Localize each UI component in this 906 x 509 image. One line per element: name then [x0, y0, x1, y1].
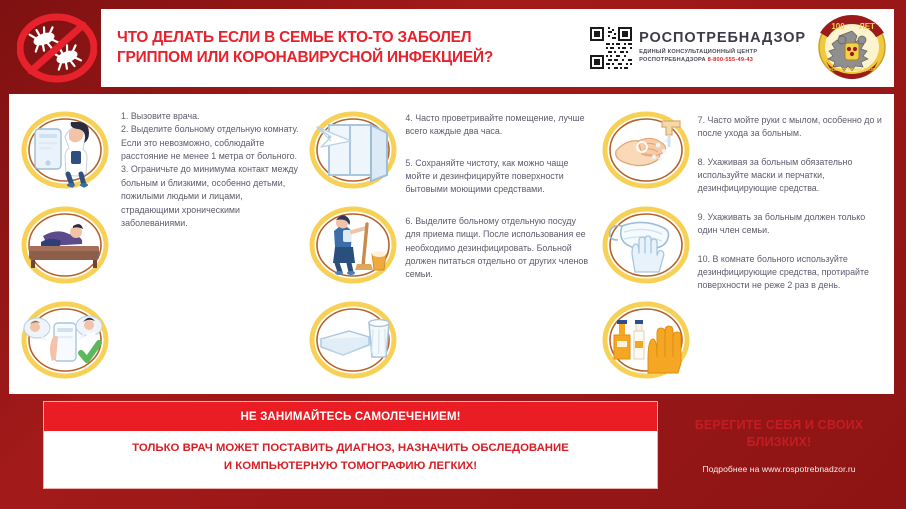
qr-code-icon[interactable] [590, 27, 632, 69]
org-sub-line-1: ЕДИНЫЙ КОНСУЛЬТАЦИОННЫЙ ЦЕНТР [639, 49, 806, 57]
open-window-ventilation-icon [309, 111, 397, 189]
step-1: 1. Вызовите врача. [121, 110, 299, 123]
step-7: 7. Часто мойте руки с мылом, особенно до… [698, 114, 884, 141]
self-medication-warning: НЕ ЗАНИМАЙТЕСЬ САМОЛЕЧЕНИЕМ! ТОЛЬКО ВРАЧ… [43, 401, 658, 489]
column-2-icons [305, 100, 401, 390]
column-2-steps: 4. Часто проветривайте помещение, лучше … [401, 100, 597, 390]
side-headline-line-1: БЕРЕГИТЕ СЕБЯ И СВОИХ [695, 417, 864, 434]
warning-body-line-1: ТОЛЬКО ВРАЧ МОЖЕТ ПОСТАВИТЬ ДИАГНОЗ, НАЗ… [132, 440, 569, 457]
warning-body: ТОЛЬКО ВРАЧ МОЖЕТ ПОСТАВИТЬ ДИАГНОЗ, НАЗ… [44, 431, 657, 488]
column-3-icons [598, 100, 694, 390]
no-virus-prohibition-icon [9, 9, 101, 87]
emblem-years: 100 [831, 22, 845, 31]
org-sub-line-2: РОСПОТРЕБНАДЗОРА 8-800-555-49-43 [639, 57, 806, 65]
step-5: 5. Сохраняйте чистоту, как можно чаще мо… [405, 157, 591, 197]
column-1-steps: 1. Вызовите врача. 2. Выделите больному … [117, 100, 305, 390]
title-line-1: ЧТО ДЕЛАТЬ ЕСЛИ В СЕМЬЕ КТО-ТО ЗАБОЛЕЛ [117, 28, 584, 48]
column-1-icons [13, 100, 117, 390]
org-subtitle: ЕДИНЫЙ КОНСУЛЬТАЦИОННЫЙ ЦЕНТР РОСПОТРЕБН… [639, 49, 806, 65]
side-headline: БЕРЕГИТЕ СЕБЯ И СВОИХ БЛИЗКИХ! [695, 417, 864, 451]
step-9: 9. Ухаживать за больным должен только од… [698, 211, 884, 238]
org-name: РОСПОТРЕБНАДЗОР [639, 31, 806, 47]
mask-and-gloves-icon [602, 206, 690, 284]
org-sub-prefix: РОСПОТРЕБНАДЗОРА [639, 57, 706, 63]
org-phone[interactable]: 8-800-555-49-43 [708, 57, 753, 63]
column-3-steps: 7. Часто мойте руки с мылом, особенно до… [694, 100, 890, 390]
step-8: 8. Ухаживая за больным обязательно испол… [698, 156, 884, 196]
poster-footer: НЕ ЗАНИМАЙТЕСЬ САМОЛЕЧЕНИЕМ! ТОЛЬКО ВРАЧ… [9, 401, 894, 489]
poster-root: ЧТО ДЕЛАТЬ ЕСЛИ В СЕМЬЕ КТО-ТО ЗАБОЛЕЛ Г… [0, 0, 906, 509]
svg-text:РОСПОТРЕБНАДЗОР: РОСПОТРЕБНАДЗОР [829, 67, 876, 72]
side-headline-line-2: БЛИЗКИХ! [695, 434, 864, 451]
step-3: 3. Ограничьте до минимума контакт между … [121, 163, 299, 230]
emblem-years-label: ЛЕТ [859, 22, 875, 31]
step-10: 10. В комнате больного используйте дезин… [698, 253, 884, 293]
rospotrebnadzor-block: РОСПОТРЕБНАДЗОР ЕДИНЫЙ КОНСУЛЬТАЦИОННЫЙ … [590, 27, 810, 69]
steps-column-3: 7. Часто мойте руки с мылом, особенно до… [598, 100, 890, 390]
poster-header: ЧТО ДЕЛАТЬ ЕСЛИ В СЕМЬЕ КТО-ТО ЗАБОЛЕЛ Г… [9, 9, 894, 87]
org-text-block: РОСПОТРЕБНАДЗОР ЕДИНЫЙ КОНСУЛЬТАЦИОННЫЙ … [639, 31, 806, 65]
steps-column-1: 1. Вызовите врача. 2. Выделите больному … [13, 100, 305, 390]
disinfectant-bottles-gloves-icon [602, 301, 690, 379]
steps-panel: 1. Вызовите врача. 2. Выделите больному … [9, 94, 894, 394]
warning-body-inner: ТОЛЬКО ВРАЧ МОЖЕТ ПОСТАВИТЬ ДИАГНОЗ, НАЗ… [132, 440, 569, 474]
website-note[interactable]: Подробнее на www.rospotrebnadzor.ru [702, 464, 855, 474]
washing-hands-under-tap-icon [602, 111, 690, 189]
warning-headline: НЕ ЗАНИМАЙТЕСЬ САМОЛЕЧЕНИЕМ! [44, 402, 657, 431]
title-line-2: ГРИППОМ ИЛИ КОРОНАВИРУСНОЙ ИНФЕКЦИЕЙ? [117, 48, 584, 68]
step-4: 4. Часто проветривайте помещение, лучше … [405, 112, 591, 139]
steps-column-2: 4. Часто проветривайте помещение, лучше … [305, 100, 597, 390]
rospotrebnadzor-emblem-icon: 100 ЛЕТ РОСПОТРЕБНАДЗОР [816, 13, 888, 83]
separate-dishes-icon [309, 301, 397, 379]
doctor-with-tablet-icon [21, 111, 109, 189]
page-title: ЧТО ДЕЛАТЬ ЕСЛИ В СЕМЬЕ КТО-ТО ЗАБОЛЕЛ Г… [117, 28, 584, 67]
woman-mopping-floor-icon [309, 206, 397, 284]
person-resting-on-sofa-icon [21, 206, 109, 284]
video-call-with-checkmark-icon [21, 301, 109, 379]
step-2: 2. Выделите больному отдельную комнату. … [121, 123, 299, 163]
step-6: 6. Выделите больному отдельную посуду дл… [405, 215, 591, 282]
header-white-bar: ЧТО ДЕЛАТЬ ЕСЛИ В СЕМЬЕ КТО-ТО ЗАБОЛЕЛ Г… [101, 9, 894, 87]
warning-body-line-2: И КОМПЬЮТЕРНУЮ ТОМОГРАФИЮ ЛЕГКИХ! [132, 458, 569, 475]
footer-side-block: БЕРЕГИТЕ СЕБЯ И СВОИХ БЛИЗКИХ! Подробнее… [668, 401, 890, 489]
